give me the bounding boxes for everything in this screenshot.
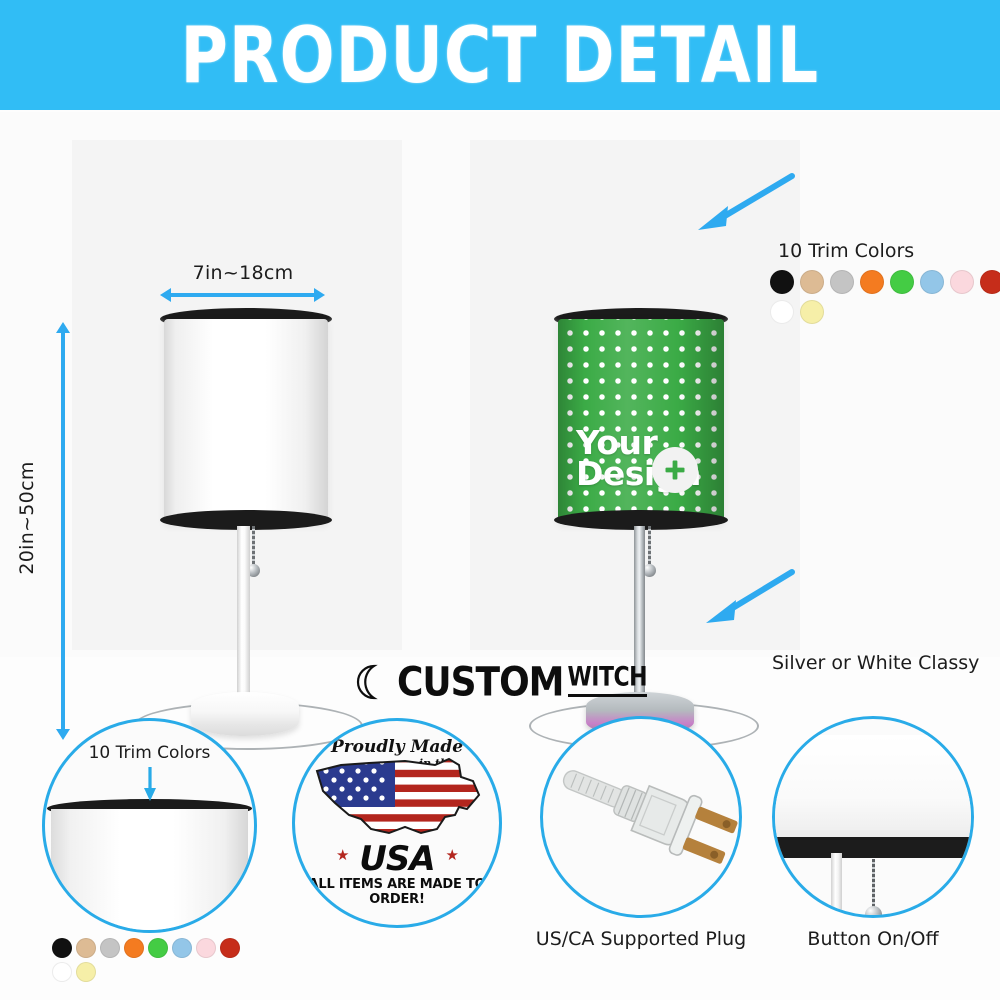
usa-proudly-made-text: Proudly Made [295,737,499,757]
white-lamp-shade [164,319,328,524]
base-finish-callout-arrow [692,560,802,630]
feature-plug-circle [540,716,742,918]
trim-colors-down-arrow [144,767,156,801]
feature-button-chain-ball[interactable] [865,906,882,918]
usa-star-right: ★ [446,846,458,864]
brand-custom-text: CUSTOM [397,659,564,705]
power-plug-icon [551,743,741,893]
feature-plug: US/CA Supported Plug [540,716,742,918]
usa-badge: Proudly Made in the [295,721,499,925]
brand-underline [568,694,648,697]
trim-color-swatches-top[interactable] [770,270,1000,324]
feature-made-in-usa-circle: Proudly Made in the [292,718,502,928]
swatch-white[interactable] [770,300,794,324]
main-product-panel: 7in~18cm 20in~50cm [0,112,1000,657]
trim-color-swatches-bottom[interactable] [52,938,252,982]
swatch-tan[interactable] [800,270,824,294]
custom-witch-c-icon [353,661,399,703]
page-title: PRODUCT DETAIL [181,10,820,101]
swatch-red[interactable] [980,270,1000,294]
feature-trim-shade [51,809,248,933]
feature-button-inner [775,741,971,901]
bottom-swatch-gray[interactable] [100,938,120,958]
feature-plug-caption: US/CA Supported Plug [508,928,774,950]
bottom-swatch-light-blue[interactable] [172,938,192,958]
bottom-swatch-black[interactable] [52,938,72,958]
feature-made-in-usa: Proudly Made in the [292,718,502,928]
add-design-plus-badge[interactable] [652,447,698,493]
feature-button-shade [772,735,974,839]
width-dimension-label: 7in~18cm [158,262,328,284]
swatch-yellow[interactable] [800,300,824,324]
product-detail-infographic: PRODUCT DETAIL 7in~18cm 20in~50cm [0,0,1000,1000]
swatch-pink[interactable] [950,270,974,294]
usa-word: ★ USA ★ [295,839,499,879]
feature-button-circle [772,716,974,918]
white-lamp-pull-chain[interactable] [252,526,255,568]
bottom-swatch-red[interactable] [220,938,240,958]
feature-button-pole [831,853,842,918]
usa-subtitle: ALL ITEMS ARE MADE TO ORDER! [295,877,499,907]
bottom-swatch-pink[interactable] [196,938,216,958]
width-dimension-arrow [160,288,325,302]
height-dimension-label: 20in~50cm [16,443,38,593]
usa-word-text: USA [359,839,434,879]
swatch-light-blue[interactable] [920,270,944,294]
green-lamp-pull-chain[interactable] [648,526,651,568]
swatch-orange[interactable] [860,270,884,294]
bottom-swatch-yellow[interactable] [76,962,96,982]
brand-logo: CUSTOM WITCH [0,658,1000,706]
bottom-swatch-white[interactable] [52,962,72,982]
feature-trim-colors: 10 Trim Colors [42,718,257,933]
bottom-swatch-tan[interactable] [76,938,96,958]
brand-witch-block: WITCH [568,667,648,697]
swatch-black[interactable] [770,270,794,294]
feature-button-trim [772,837,974,858]
feature-trim-colors-circle: 10 Trim Colors [42,718,257,933]
usa-star-left: ★ [336,846,348,864]
usa-flag-map-icon [309,755,491,851]
feature-button-caption: Button On/Off [754,928,992,950]
swatch-green[interactable] [890,270,914,294]
brand-witch-text: WITCH [568,665,648,692]
header-banner: PRODUCT DETAIL [0,0,1000,110]
green-lamp-shade: Your Design [558,319,724,524]
feature-button-pull-chain[interactable] [872,859,875,909]
feature-trim-colors-title: 10 Trim Colors [45,743,254,763]
trim-colors-callout-label: 10 Trim Colors [778,240,914,262]
bottom-swatch-orange[interactable] [124,938,144,958]
trim-colors-callout-arrow [688,170,798,235]
bottom-swatch-green[interactable] [148,938,168,958]
swatch-gray[interactable] [830,270,854,294]
plus-icon [662,457,688,483]
feature-button: Button On/Off [772,716,974,918]
